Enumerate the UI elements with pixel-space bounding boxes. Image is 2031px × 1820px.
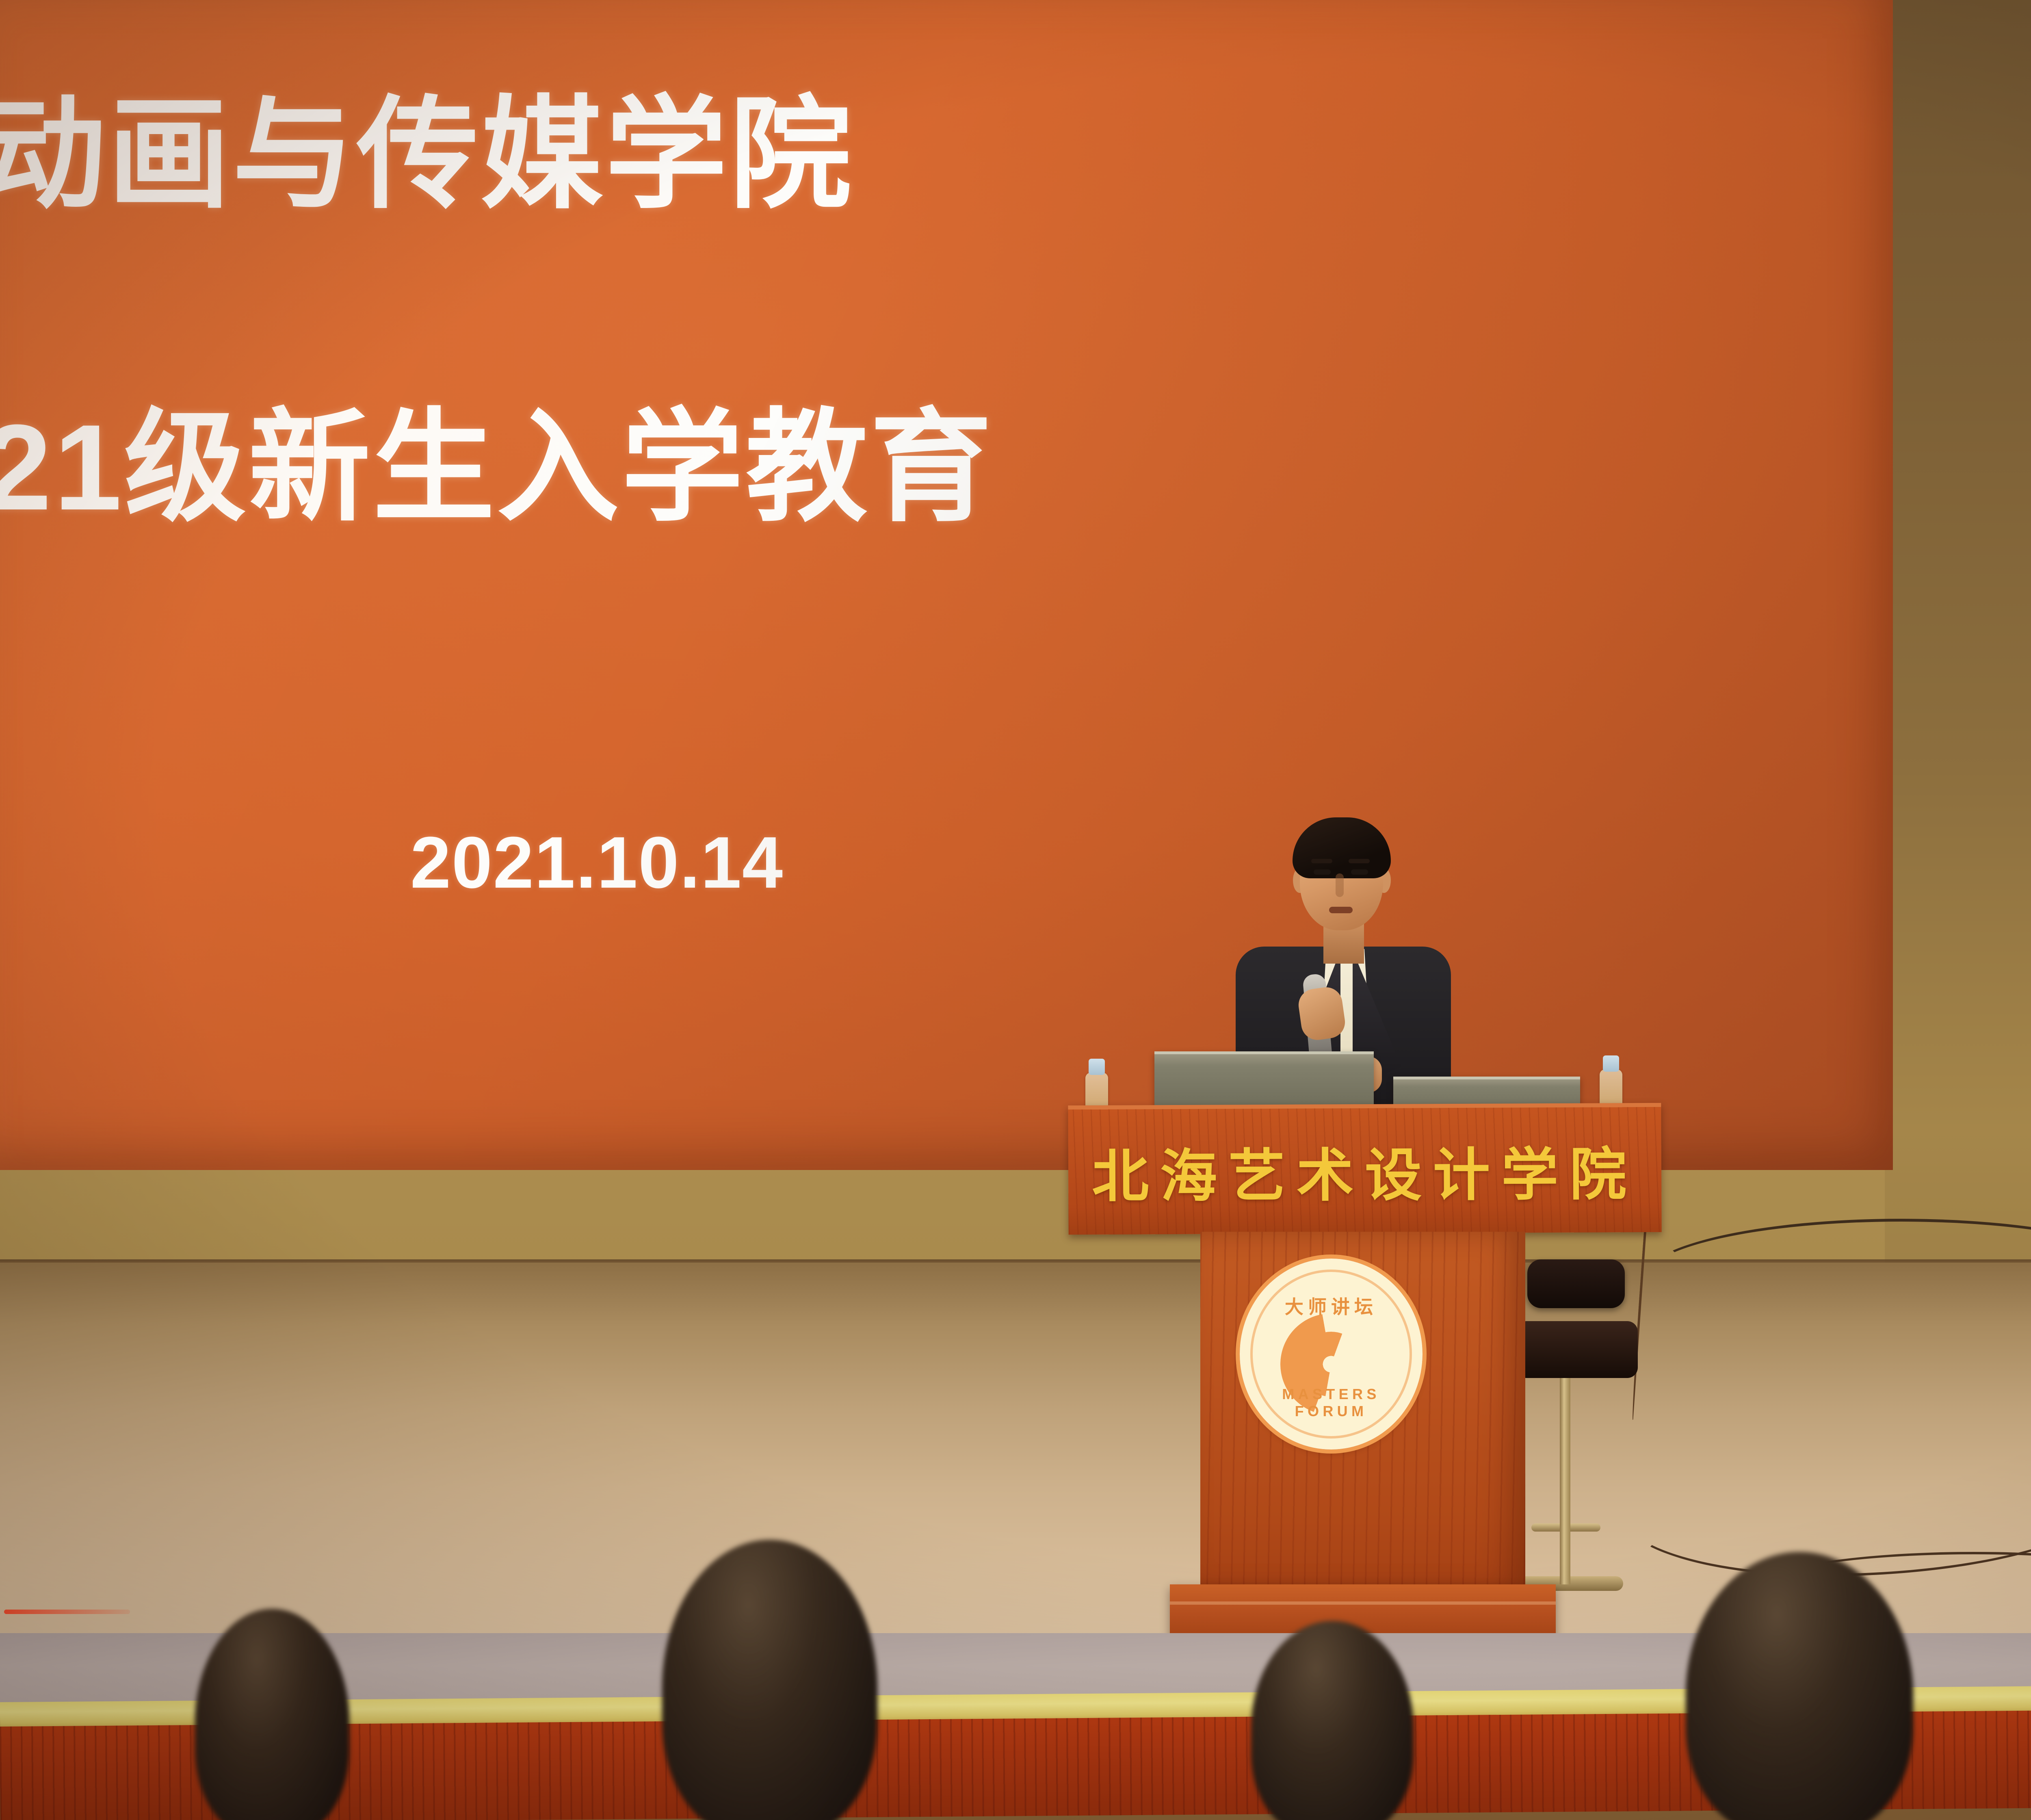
projection-screen: 动画与传媒学院 21级新生入学教育 2021.10.14 (0, 0, 1893, 1170)
podium-plinth-moulding (1170, 1601, 1556, 1605)
projection-screen-content: 动画与传媒学院 21级新生入学教育 2021.10.14 (0, 0, 1893, 1170)
red-laser-streak (4, 1610, 130, 1614)
laptop-left (1154, 1051, 1374, 1112)
slide-date: 2021.10.14 (410, 821, 784, 905)
lecture-hall-photo: 动画与传媒学院 21级新生入学教育 2021.10.14 (0, 0, 2031, 1820)
speaker-eyebrow-right (1349, 859, 1370, 863)
emblem-plate: 大师讲坛 MASTERS FORUM (1250, 1270, 1412, 1439)
emblem-chinese-label: 大师讲坛 (1250, 1292, 1412, 1319)
stool-seat (1516, 1321, 1638, 1378)
slide-title-line-2: 21级新生入学教育 (0, 406, 994, 528)
audience-head-2 (662, 1540, 877, 1820)
stool-post (1560, 1373, 1570, 1584)
bottle-cap-left (1089, 1059, 1105, 1075)
speaker-nose (1336, 873, 1344, 897)
auditorium-back-wall-right-section (1885, 0, 2031, 1284)
stool-backrest (1527, 1259, 1625, 1308)
speaker-mouth (1329, 907, 1353, 913)
bottle-cap-right (1603, 1055, 1619, 1072)
podium-institution-name: 北海艺术设计学院 (1092, 1129, 1638, 1213)
slide-title-line-1: 动画与传媒学院 (0, 93, 854, 215)
speaker-eye-left (1314, 869, 1331, 875)
masters-forum-emblem: 大师讲坛 MASTERS FORUM (1240, 1259, 1423, 1449)
podium-name-banner: 北海艺术设计学院 (1068, 1103, 1661, 1235)
emblem-english-label: MASTERS FORUM (1250, 1386, 1412, 1420)
speaker-eyebrow-left (1311, 859, 1332, 863)
speaker-eye-right (1351, 869, 1368, 875)
